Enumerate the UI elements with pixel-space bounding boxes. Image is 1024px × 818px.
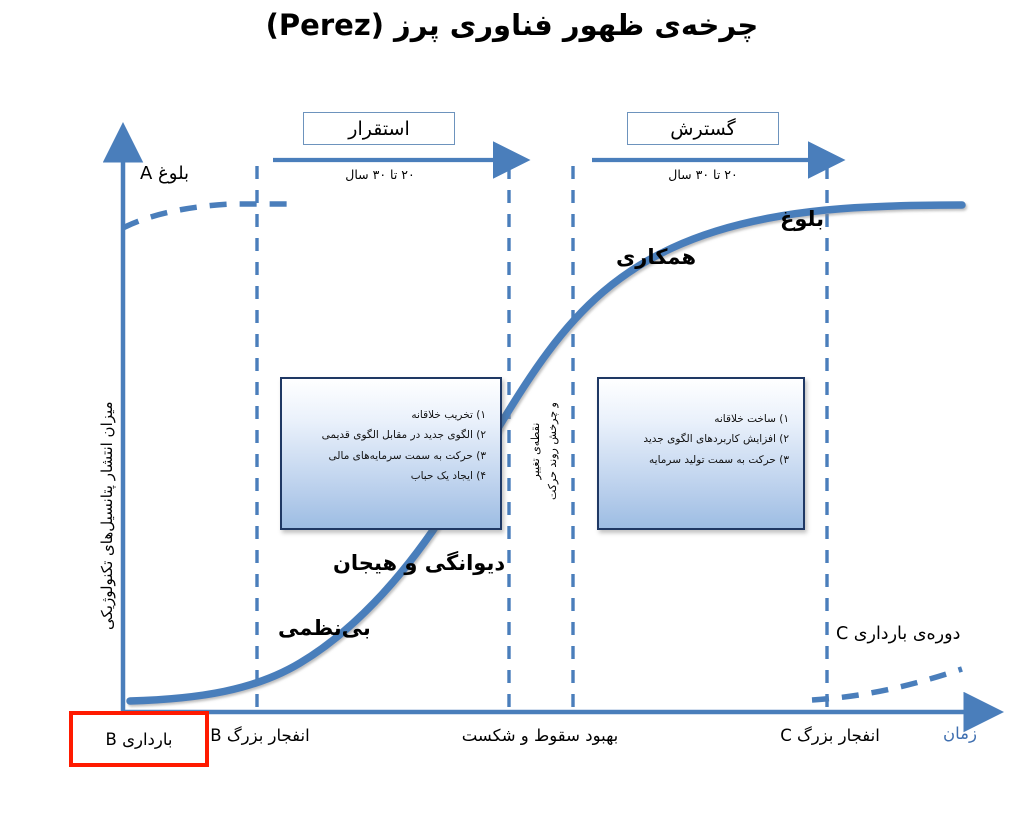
callout-item: ۱) ساخت خلاقانه [613, 409, 789, 429]
label-maturity: بلوغ [780, 207, 824, 231]
callout-item: ۲) الگوی جدید در مقابل الگوی قدیمی [296, 425, 486, 445]
callout-item: ۲) افزایش کاربردهای الگوی جدید [613, 429, 789, 449]
phase-duration-deployment: ۲۰ تا ۳۰ سال [618, 167, 788, 182]
phase-label-installation: استقرار [348, 118, 409, 140]
chart-vector-layer [0, 0, 1024, 818]
callout-item: ۳) حرکت به سمت تولید سرمایه [613, 450, 789, 470]
diagram-canvas: چرخه‌ی ظهور فناوری پرز (Perez) [0, 0, 1024, 818]
phase-box-deployment[interactable]: گسترش [627, 112, 779, 145]
label-maturity-a: بلوغ A [140, 163, 189, 184]
label-irregularity: بی‌نظمی [278, 616, 371, 640]
callout-installation-details[interactable]: ۱) تخریب خلاقانه ۲) الگوی جدید در مقابل … [280, 377, 502, 530]
x-tick-big-bang-b: انفجار بزرگ B [185, 726, 335, 745]
label-gestation-c: دوره‌ی بارداری C [836, 624, 960, 644]
phase-box-installation[interactable]: استقرار [303, 112, 455, 145]
phase-label-deployment: گسترش [670, 118, 735, 140]
turning-point-line2: و چرخش روند حرکت [546, 402, 559, 500]
callout-deployment-details[interactable]: ۱) ساخت خلاقانه ۲) افزایش کاربردهای الگو… [597, 377, 805, 530]
curve-cycle-c [812, 669, 962, 700]
label-frenzy: دیوانگی و هیجان [333, 551, 505, 575]
phase-duration-installation: ۲۰ تا ۳۰ سال [295, 167, 465, 182]
callout-item: ۱) تخریب خلاقانه [296, 405, 486, 425]
x-tick-label: بارداری B [106, 730, 173, 749]
x-tick-recovery: بهبود سقوط و شکست [440, 726, 640, 745]
x-axis-label: زمان [943, 724, 977, 743]
callout-item: ۴) ایجاد یک حباب [296, 466, 486, 486]
turning-point-line1: نقطه‌ی تغییر [529, 423, 542, 480]
label-turning-point: نقطه‌ی تغییر و چرخش روند حرکت [528, 402, 561, 500]
label-synergy: همکاری [616, 245, 696, 269]
callout-item: ۳) حرکت به سمت سرمایه‌های مالی [296, 446, 486, 466]
curve-cycle-a [123, 204, 290, 228]
y-axis-label: میزان انتشار پتانسیل‌های تکنولوژیکی [98, 401, 116, 630]
x-tick-big-bang-c: انفجار بزرگ C [755, 726, 905, 745]
